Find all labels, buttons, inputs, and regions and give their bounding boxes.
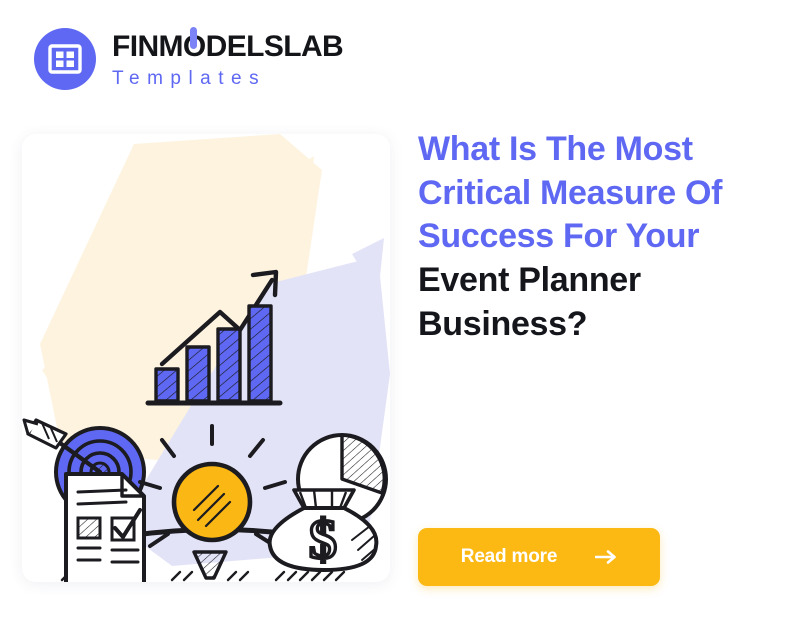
read-more-label: Read more [461,546,557,568]
headline-accent-line-1: What Is The Most [418,128,778,172]
business-success-balance-illustration: $ [22,134,390,582]
brand-text: FINMODELSLAB Templates [112,30,343,88]
headline-accent-line-3: Success For Your [418,215,778,259]
headline-block: What Is The Most Critical Measure Of Suc… [418,128,778,346]
illustration-card: $ [22,134,390,582]
headline-accent-line-2: Critical Measure Of [418,172,778,216]
page-title: What Is The Most Critical Measure Of Suc… [418,128,778,346]
brand-logo[interactable]: FINMODELSLAB Templates [34,28,343,90]
headline-dark-line-2: Business? [418,303,778,347]
brand-name-label: FINMODELSLAB [112,30,343,63]
headline-dark-line-1: Event Planner [418,259,778,303]
svg-text:$: $ [309,509,337,571]
grid-squares-icon [34,28,96,90]
brand-subtitle: Templates [112,69,343,88]
read-more-button[interactable]: Read more [418,528,660,586]
promo-banner: FINMODELSLAB Templates [0,0,800,618]
brand-name: FINMODELSLAB [112,32,343,62]
checklist-document [66,474,144,582]
pin-accent-icon [190,27,197,49]
arrow-right-icon [595,550,617,564]
